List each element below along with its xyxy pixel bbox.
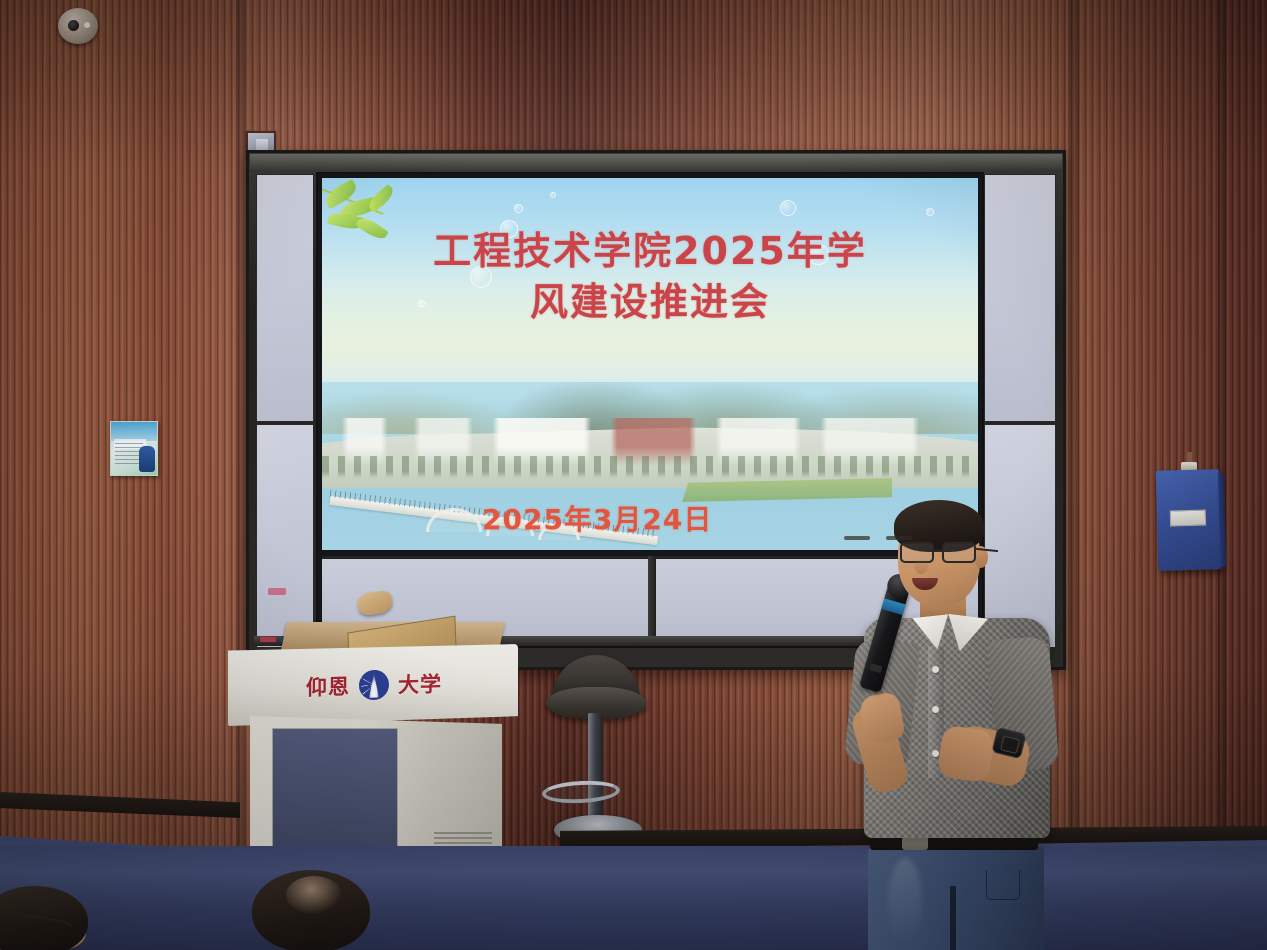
whiteboard-panel-right-upper[interactable] xyxy=(984,174,1056,422)
podium-branding: 仰恩 大学 xyxy=(264,665,484,705)
presenter-nose xyxy=(914,558,928,574)
stool-post xyxy=(588,713,603,819)
tree-line xyxy=(322,456,978,478)
camera-led-icon xyxy=(84,22,90,28)
microphone-band xyxy=(881,598,905,615)
sunburst-fan-emblem-icon xyxy=(359,670,389,701)
podium-brand-left: 仰恩 xyxy=(306,671,350,702)
black-bar-stool[interactable] xyxy=(536,655,656,855)
shirt-button xyxy=(932,706,939,713)
slide-title: 工程技术学院2025年学 风建设推进会 xyxy=(322,226,978,329)
slide-date: 2025年3月24日 xyxy=(482,498,782,538)
wall-poster xyxy=(110,421,158,476)
photo-scene: 工程技术学院2025年学 风建设推进会 2025年3月24日 仰恩 大学 xyxy=(0,0,1267,950)
bubble-icon xyxy=(926,208,934,216)
shirt-button xyxy=(932,666,939,673)
stool-footrest xyxy=(541,779,620,805)
whiteboard-panel-left-upper[interactable] xyxy=(256,174,314,422)
poster-sky xyxy=(111,422,157,441)
camera-lens-icon xyxy=(68,20,79,31)
eyeglass-bridge xyxy=(934,550,944,552)
eyeglasses-icon xyxy=(896,542,984,564)
bubble-icon xyxy=(780,200,796,216)
podium-brand-right: 大学 xyxy=(398,668,442,699)
presenter-eyebrow xyxy=(886,536,912,540)
presenter-hand-right xyxy=(937,725,996,784)
presentation-slide: 工程技术学院2025年学 风建设推进会 2025年3月24日 xyxy=(322,178,978,550)
slide-title-line-2: 风建设推进会 xyxy=(322,277,978,328)
board-top-rail xyxy=(250,154,1062,170)
jeans-pocket xyxy=(986,870,1020,900)
lower-whiteboard-divider xyxy=(648,556,656,646)
poster-figure xyxy=(139,446,155,472)
bubble-icon xyxy=(550,192,556,198)
jeans-highlight xyxy=(888,858,922,946)
slide-title-line-1: 工程技术学院2025年学 xyxy=(433,229,867,273)
blue-clipboard-folder[interactable] xyxy=(1156,469,1222,571)
folder-label xyxy=(1170,510,1206,527)
presenter-eyebrow xyxy=(844,536,870,540)
ledge-object xyxy=(268,588,286,595)
whiteboard-panel-left-lower[interactable] xyxy=(256,424,314,648)
presenter xyxy=(836,498,1086,950)
audience-1-scalp xyxy=(286,876,342,914)
microphone-button[interactable] xyxy=(869,663,882,673)
eyeglass-lens-right xyxy=(942,542,976,563)
shirt-button xyxy=(932,750,939,757)
bubble-icon xyxy=(514,204,523,213)
